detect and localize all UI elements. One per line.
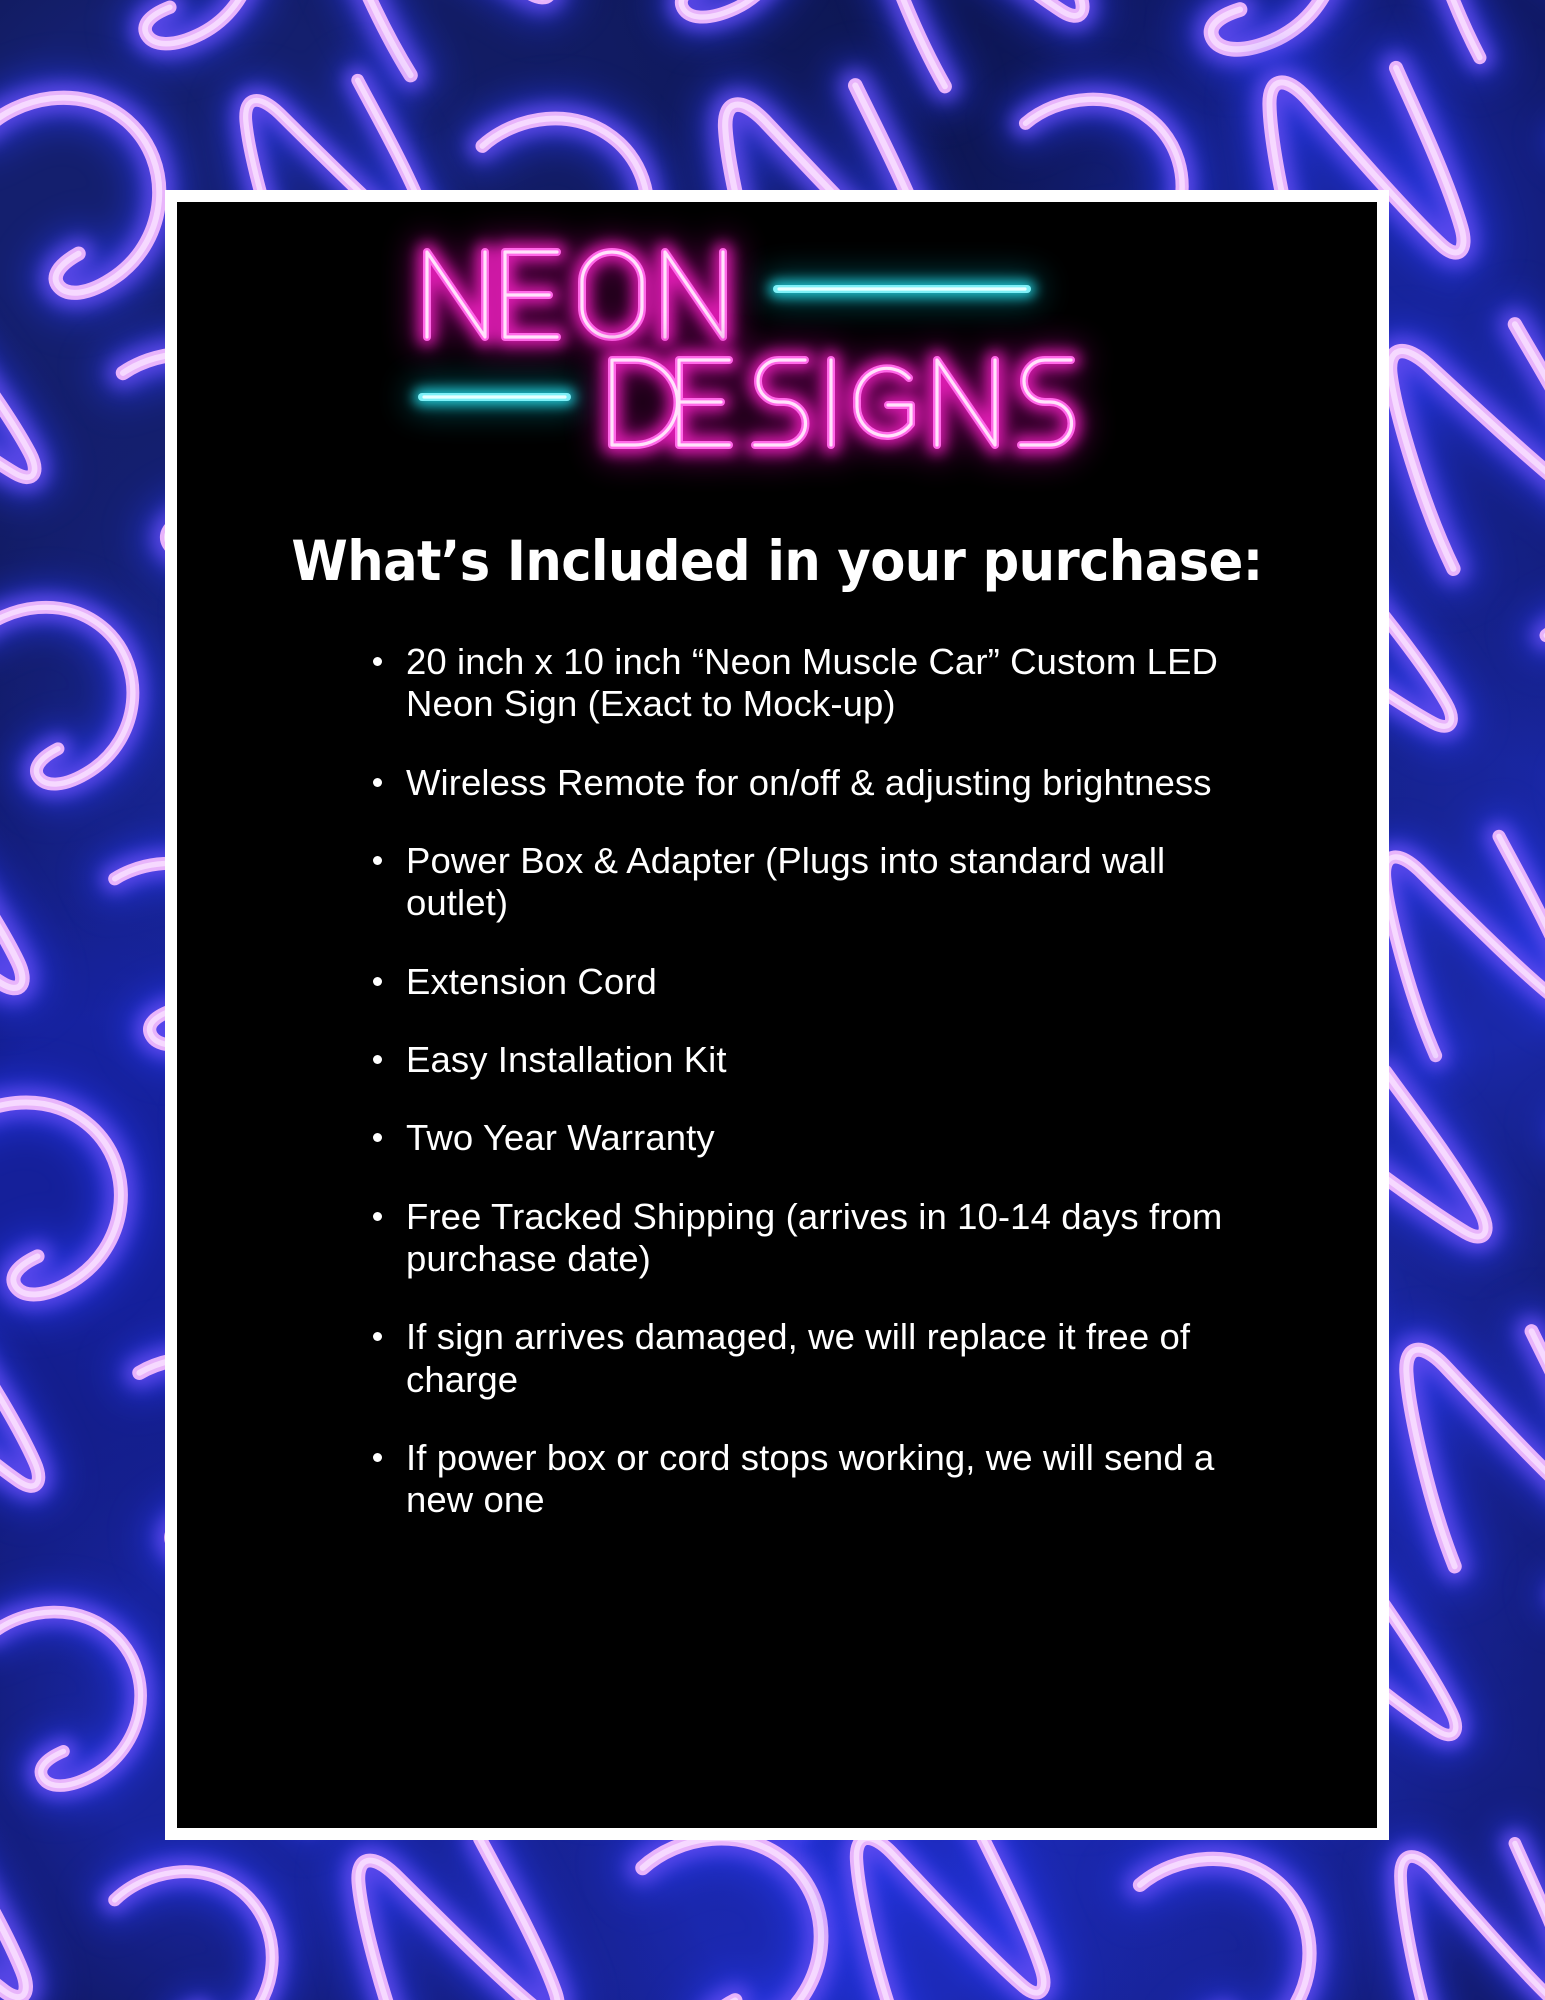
- card-white-frame: What’s Included in your purchase: 20 inc…: [165, 190, 1389, 1840]
- whats-included-list: 20 inch x 10 inch “Neon Muscle Car” Cust…: [177, 641, 1377, 1522]
- list-item: Easy Installation Kit: [373, 1039, 1236, 1081]
- list-item: If sign arrives damaged, we will replace…: [373, 1316, 1236, 1401]
- poster-page: What’s Included in your purchase: 20 inc…: [0, 0, 1545, 2000]
- list-item: If power box or cord stops working, we w…: [373, 1437, 1236, 1522]
- logo-word-neon: [427, 252, 723, 337]
- neon-designs-logo: [407, 242, 1147, 457]
- list-item: Two Year Warranty: [373, 1117, 1236, 1159]
- page-title: What’s Included in your purchase:: [219, 529, 1335, 593]
- logo-word-designs: [612, 360, 1072, 445]
- list-item: Extension Cord: [373, 961, 1236, 1003]
- list-item: Wireless Remote for on/off & adjusting b…: [373, 762, 1236, 804]
- list-item: Power Box & Adapter (Plugs into standard…: [373, 840, 1236, 925]
- list-item: Free Tracked Shipping (arrives in 10-14 …: [373, 1196, 1236, 1281]
- card-black-panel: What’s Included in your purchase: 20 inc…: [177, 202, 1377, 1828]
- list-item: 20 inch x 10 inch “Neon Muscle Car” Cust…: [373, 641, 1236, 726]
